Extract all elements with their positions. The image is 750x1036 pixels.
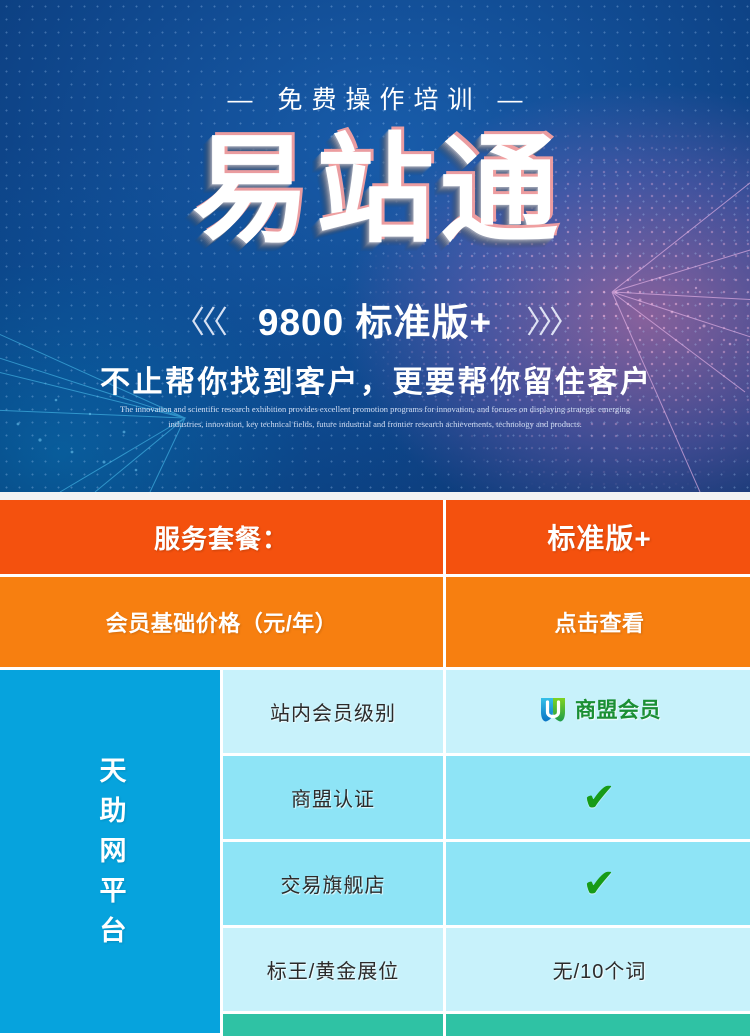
header-label-cell: 服务套餐： xyxy=(0,500,446,577)
side-category-label: 天助网平台 xyxy=(97,743,124,956)
hero-banner: — 免费操作培训 — 易站通 〈〈〈 9800 标准版+ 〉〉〉 不止帮你找到客… xyxy=(0,0,750,492)
banner-eyebrow: — 免费操作培训 — xyxy=(0,80,750,116)
chevron-left-icon: 〈〈〈 xyxy=(174,297,224,342)
tail-value-cell xyxy=(446,1014,750,1036)
price-label-cell: 会员基础价格（元/年） xyxy=(0,577,446,670)
banner-price-text: 9800 标准版+ xyxy=(258,292,492,346)
banner-subtext: The innovation and scientific research e… xyxy=(110,402,640,432)
banner-tagline: 不止帮你找到客户，更要帮你留住客户 xyxy=(0,357,750,401)
pricing-table: 服务套餐： 标准版+ 会员基础价格（元/年） 点击查看 天助网平台 站内会员级别 xyxy=(0,500,750,1036)
header-value-cell: 标准版+ xyxy=(446,500,750,577)
feature-label-cell: 站内会员级别 xyxy=(223,670,446,756)
table-header-row: 服务套餐： 标准版+ xyxy=(0,500,750,577)
feature-label-cell: 标王/黄金展位 xyxy=(223,928,446,1014)
table-row: 天助网平台 站内会员级别 xyxy=(0,670,750,756)
chevron-right-icon: 〉〉〉 xyxy=(526,297,576,342)
check-icon: ✔ xyxy=(581,865,619,903)
feature-label-cell: 交易旗舰店 xyxy=(223,842,446,928)
banner-title: 易站通 xyxy=(0,128,750,255)
feature-value-cell: 无/10个词 xyxy=(446,928,750,1014)
feature-label-cell: 商盟认证 xyxy=(223,756,446,842)
shield-u-logo-icon xyxy=(538,694,568,724)
membership-badge-label: 商盟会员 xyxy=(575,694,661,724)
feature-value-cell: ✔ xyxy=(446,756,750,842)
price-value-cell[interactable]: 点击查看 xyxy=(446,577,750,670)
table-price-row: 会员基础价格（元/年） 点击查看 xyxy=(0,577,750,670)
check-icon: ✔ xyxy=(581,779,619,817)
feature-value-cell: 商盟会员 xyxy=(446,670,750,756)
membership-badge: 商盟会员 xyxy=(538,694,661,724)
section-divider xyxy=(0,492,750,500)
tail-label-cell xyxy=(223,1014,446,1036)
feature-value-cell: ✔ xyxy=(446,842,750,928)
side-category-cell: 天助网平台 xyxy=(0,670,223,1036)
banner-price-row: 〈〈〈 9800 标准版+ 〉〉〉 xyxy=(0,292,750,346)
